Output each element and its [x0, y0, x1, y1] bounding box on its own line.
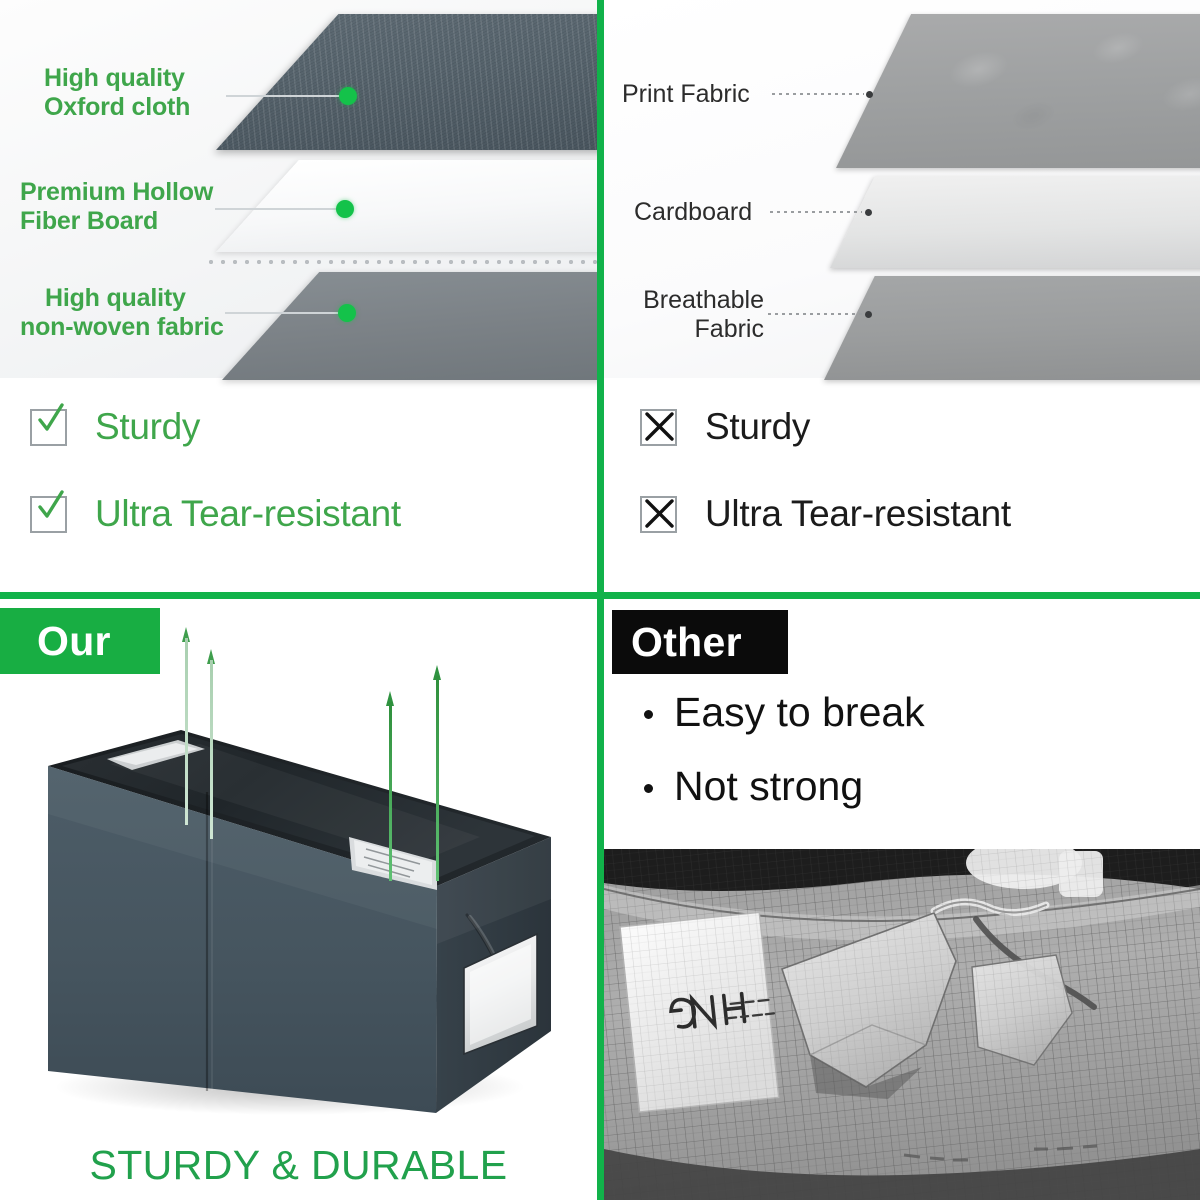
cross-icon: [644, 411, 675, 442]
leader-oxford-cloth: [226, 95, 346, 97]
checkbox-checked[interactable]: [30, 409, 67, 446]
badge-other-label: Other: [631, 619, 742, 666]
layer-breathable-fabric: [824, 276, 1200, 380]
check-row-sturdy[interactable]: Sturdy: [30, 406, 597, 448]
leader-print-fabric: [772, 93, 864, 95]
leader-cardboard: [770, 211, 862, 213]
arrow-up-2: [207, 649, 215, 839]
list-item: Easy to break: [644, 692, 925, 733]
perforation-dots: [205, 258, 597, 266]
leader-breathable-fabric: [768, 313, 862, 315]
label-non-woven: High quality non-woven fabric: [20, 284, 224, 341]
checkbox-crossed[interactable]: [640, 496, 677, 533]
comparison-infographic: High quality Oxford cloth Premium Hollow…: [0, 0, 1200, 1200]
divider-vertical: [597, 0, 604, 1200]
label-line-1: Breathable: [629, 286, 764, 315]
label-hollow-fiber: Premium Hollow Fiber Board: [20, 178, 213, 235]
checkbox-checked[interactable]: [30, 496, 67, 533]
layer-hollow-fiber-board: [216, 160, 597, 252]
torn-fabric-photo: [604, 849, 1200, 1200]
label-line-2: Fiber Board: [20, 207, 213, 236]
label-print-fabric: Print Fabric: [622, 80, 750, 109]
check-icon: [38, 403, 64, 433]
leader-hollow-fiber: [215, 208, 343, 210]
arrow-up-4: [433, 665, 441, 881]
marker-hollow-fiber: [336, 200, 354, 218]
panel-our: High quality Oxford cloth Premium Hollow…: [0, 0, 597, 592]
layer-print-fabric: [836, 14, 1200, 168]
our-material-diagram: High quality Oxford cloth Premium Hollow…: [0, 0, 597, 378]
caption-sturdy-durable: STURDY & DURABLE: [0, 1142, 597, 1189]
label-line-2: non-woven fabric: [20, 313, 224, 342]
list-item: Not strong: [644, 766, 925, 807]
check-row-tear-resistant[interactable]: Ultra Tear-resistant: [30, 493, 597, 535]
badge-our-label: Our: [37, 618, 111, 665]
check-label: Ultra Tear-resistant: [705, 493, 1011, 535]
layer-cardboard: [830, 176, 1200, 268]
label-line-2: Fabric: [629, 315, 764, 344]
bullet-label: Easy to break: [674, 692, 925, 733]
badge-other: Other: [612, 610, 788, 674]
check-row-tear-resistant[interactable]: Ultra Tear-resistant: [640, 493, 1200, 535]
bullet-icon: [644, 710, 653, 719]
storage-box-svg: [0, 599, 597, 1200]
label-breathable-fabric: Breathable Fabric: [629, 286, 764, 344]
marker-print-fabric: [866, 91, 873, 98]
label-oxford-cloth: High quality Oxford cloth: [44, 64, 190, 121]
panel-our-product: Our STURDY & DURABLE: [0, 599, 597, 1200]
torn-fabric-svg: [604, 849, 1200, 1200]
divider-horizontal: [0, 592, 1200, 599]
label-line-2: Oxford cloth: [44, 93, 190, 122]
checkbox-crossed[interactable]: [640, 409, 677, 446]
badge-our: Our: [0, 608, 160, 674]
check-label: Sturdy: [95, 406, 200, 448]
layer-oxford-cloth: [216, 14, 597, 150]
cross-icon: [644, 498, 675, 529]
marker-oxford-cloth: [339, 87, 357, 105]
bullet-icon: [644, 784, 653, 793]
check-label: Sturdy: [705, 406, 810, 448]
marker-cardboard: [865, 209, 872, 216]
panel-other-product: Other Easy to break Not strong: [604, 599, 1200, 1200]
layer-non-woven-fabric: [222, 272, 597, 380]
label-line-1: Cardboard: [634, 198, 752, 227]
our-checklist: Sturdy Ultra Tear-resistant: [0, 406, 597, 535]
our-product-illustration: [0, 599, 597, 1200]
panel-other: Print Fabric Cardboard Breathable Fabric…: [604, 0, 1200, 592]
label-line-1: High quality: [44, 64, 190, 93]
label-line-1: Print Fabric: [622, 80, 750, 109]
other-checklist: Sturdy Ultra Tear-resistant: [604, 406, 1200, 535]
label-line-1: Premium Hollow: [20, 178, 213, 207]
label-cardboard: Cardboard: [634, 198, 752, 227]
label-line-1: High quality: [45, 284, 224, 313]
other-material-diagram: Print Fabric Cardboard Breathable Fabric: [604, 0, 1200, 378]
check-row-sturdy[interactable]: Sturdy: [640, 406, 1200, 448]
marker-non-woven: [338, 304, 356, 322]
check-icon: [38, 490, 64, 520]
leader-non-woven: [225, 312, 345, 314]
arrow-up-1: [182, 627, 190, 825]
other-drawback-list: Easy to break Not strong: [644, 692, 925, 840]
marker-breathable-fabric: [865, 311, 872, 318]
arrow-up-3: [386, 691, 394, 881]
bullet-label: Not strong: [674, 766, 863, 807]
check-label: Ultra Tear-resistant: [95, 493, 401, 535]
